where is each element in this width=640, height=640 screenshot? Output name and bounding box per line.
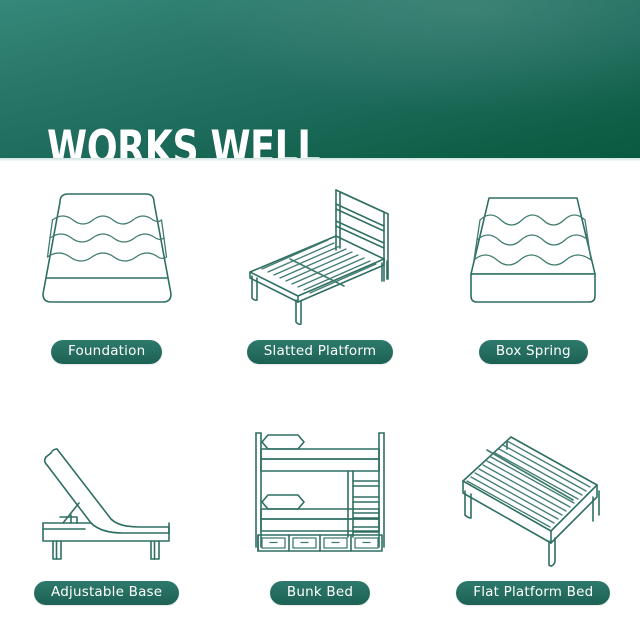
base-label-adjustable-base: Adjustable Base <box>34 581 179 605</box>
bases-grid: Foundation <box>0 162 640 640</box>
base-card-box-spring[interactable]: Box Spring <box>427 162 640 401</box>
base-label-foundation: Foundation <box>51 340 162 364</box>
infographic-page: WORKS WELL WITH THESE BASES Foundation <box>0 0 640 640</box>
header-divider <box>0 158 640 161</box>
foundation-mattress-icon <box>19 176 195 336</box>
page-title-line-1: WORKS WELL <box>47 124 439 158</box>
base-label-slatted-platform: Slatted Platform <box>247 340 393 364</box>
base-label-flat-platform-bed: Flat Platform Bed <box>456 581 610 605</box>
base-card-flat-platform-bed[interactable]: Flat Platform Bed <box>427 401 640 640</box>
base-card-slatted-platform[interactable]: Slatted Platform <box>213 162 426 401</box>
adjustable-base-icon <box>19 419 195 579</box>
base-label-bunk-bed: Bunk Bed <box>270 581 370 605</box>
slatted-platform-bed-icon <box>232 176 408 336</box>
header-banner: WORKS WELL WITH THESE BASES <box>0 0 640 158</box>
base-card-bunk-bed[interactable]: Bunk Bed <box>213 401 426 640</box>
base-label-box-spring: Box Spring <box>479 340 588 364</box>
flat-platform-bed-icon <box>445 419 621 579</box>
bunk-bed-icon <box>232 419 408 579</box>
page-title: WORKS WELL WITH THESE BASES <box>47 26 439 158</box>
base-card-adjustable-base[interactable]: Adjustable Base <box>0 401 213 640</box>
base-card-foundation[interactable]: Foundation <box>0 162 213 401</box>
box-spring-icon <box>445 176 621 336</box>
